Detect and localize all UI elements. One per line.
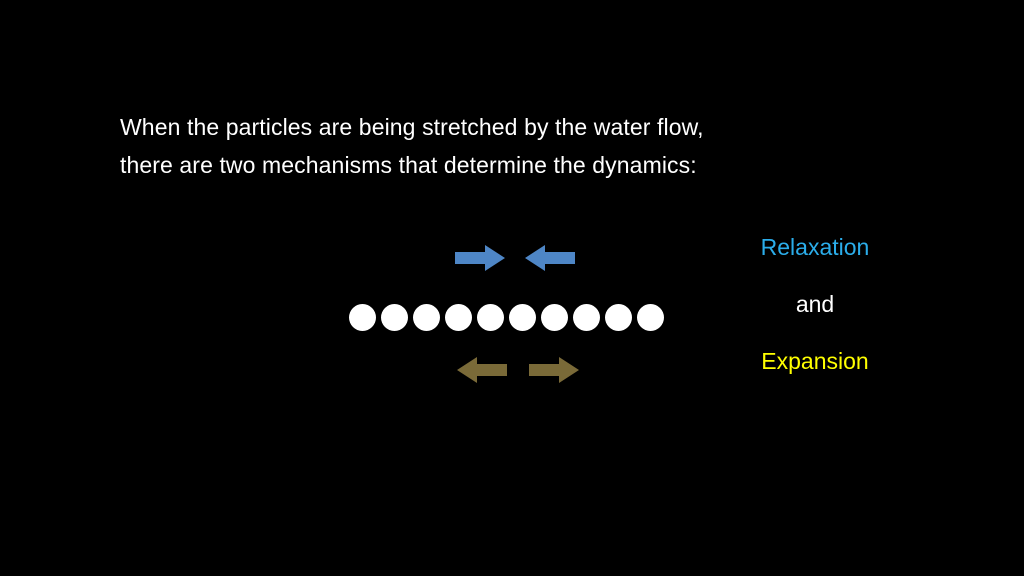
particle [573,304,600,331]
particle [381,304,408,331]
expansion-arrow-row [457,357,579,383]
particle [541,304,568,331]
relaxation-right-arrow-icon [455,245,505,271]
particle [413,304,440,331]
particle [445,304,472,331]
slide-canvas: When the particles are being stretched b… [0,0,1024,576]
particle-chain [349,303,664,331]
particle [349,304,376,331]
particle [477,304,504,331]
particle [605,304,632,331]
legend-label-relaxation: Relaxation [700,236,930,259]
mechanism-legend: Relaxation and Expansion [700,236,930,373]
legend-label-and: and [700,293,930,316]
expansion-left-arrow-icon [457,357,507,383]
expansion-right-arrow-icon [529,357,579,383]
relaxation-left-arrow-icon [525,245,575,271]
particle [637,304,664,331]
relaxation-arrow-row [455,245,577,271]
particle [509,304,536,331]
legend-label-expansion: Expansion [700,350,930,373]
